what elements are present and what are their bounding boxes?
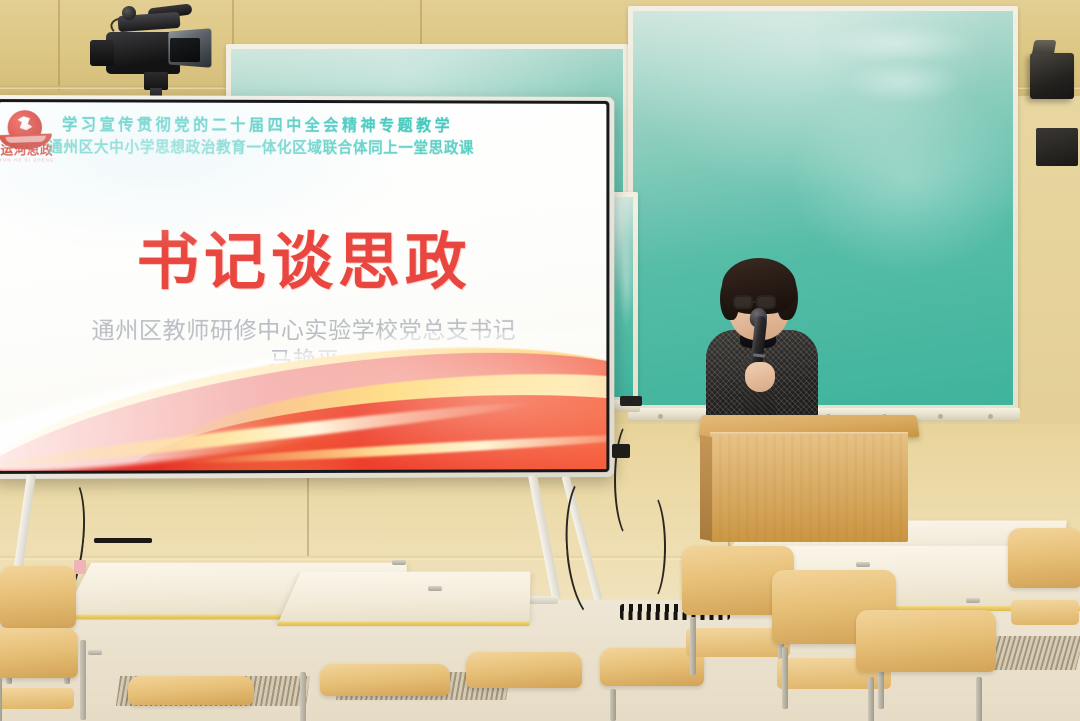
chalk-smudge: [818, 24, 978, 64]
video-camera: [92, 4, 227, 90]
desk-hook: [428, 586, 442, 591]
podium-side-panel: [700, 435, 712, 541]
eyeglasses-bridge: [753, 301, 758, 303]
wall-speaker: [1030, 53, 1074, 99]
chair: [0, 628, 78, 721]
marker-on-desk: [94, 538, 152, 543]
display-bezel: 运河思政 YUN HE SI ZHENG 学习宣传贯彻党的二十届四中全会精神专题…: [0, 99, 609, 474]
camera-knob: [122, 6, 136, 20]
slide-ribbon-decoration: [0, 332, 606, 471]
podium: [700, 414, 918, 544]
header-line-2: 通州区大中小学思想政治教育一体化区域联合体同上一堂思政课: [48, 135, 585, 158]
classroom-presentation-photo: 运河思政 YUN HE SI ZHENG 学习宣传贯彻党的二十届四中全会精神专题…: [0, 0, 1080, 721]
chair: [320, 664, 450, 721]
presentation-display[interactable]: 运河思政 YUN HE SI ZHENG 学习宣传贯彻党的二十届四中全会精神专题…: [0, 95, 614, 479]
cable-clip: [620, 396, 642, 406]
presenter-hand: [745, 362, 775, 392]
slide-title: 书记谈思政: [0, 211, 606, 301]
desk-hook: [966, 598, 980, 603]
desk-leg: [80, 640, 86, 720]
logo-pinyin-band: YUN HE SI ZHENG: [0, 157, 58, 162]
chair: [466, 652, 582, 721]
camera-viewfinder-glass: [170, 38, 200, 62]
eyeglasses-left-lens: [733, 295, 753, 309]
chair: [128, 676, 254, 721]
slide-canvas: 运河思政 YUN HE SI ZHENG 学习宣传贯彻党的二十届四中全会精神专题…: [0, 102, 606, 471]
camera-lens-hood: [90, 40, 114, 66]
cable-junction-box: [612, 444, 630, 458]
eyeglasses-right-lens: [756, 295, 776, 309]
slide-header: 运河思政 YUN HE SI ZHENG 学习宣传贯彻党的二十届四中全会精神专题…: [4, 110, 599, 167]
wall-panel-box: [1036, 128, 1078, 166]
desk-hook: [88, 650, 102, 655]
slide-header-lines: 学习宣传贯彻党的二十届四中全会精神专题教学 通州区大中小学思想政治教育一体化区域…: [62, 110, 598, 157]
chair: [1008, 528, 1080, 644]
header-line-1: 学习宣传贯彻党的二十届四中全会精神专题教学: [62, 113, 598, 137]
floor-cable: [636, 492, 666, 602]
podium-front-panel: [710, 434, 908, 542]
wall-seam: [58, 0, 60, 90]
desk-hook: [392, 560, 406, 565]
desk-leg: [300, 672, 306, 721]
desk-hook: [856, 562, 870, 567]
chalk-smudge: [842, 60, 964, 104]
desk: [278, 572, 530, 623]
chair: [856, 610, 996, 721]
